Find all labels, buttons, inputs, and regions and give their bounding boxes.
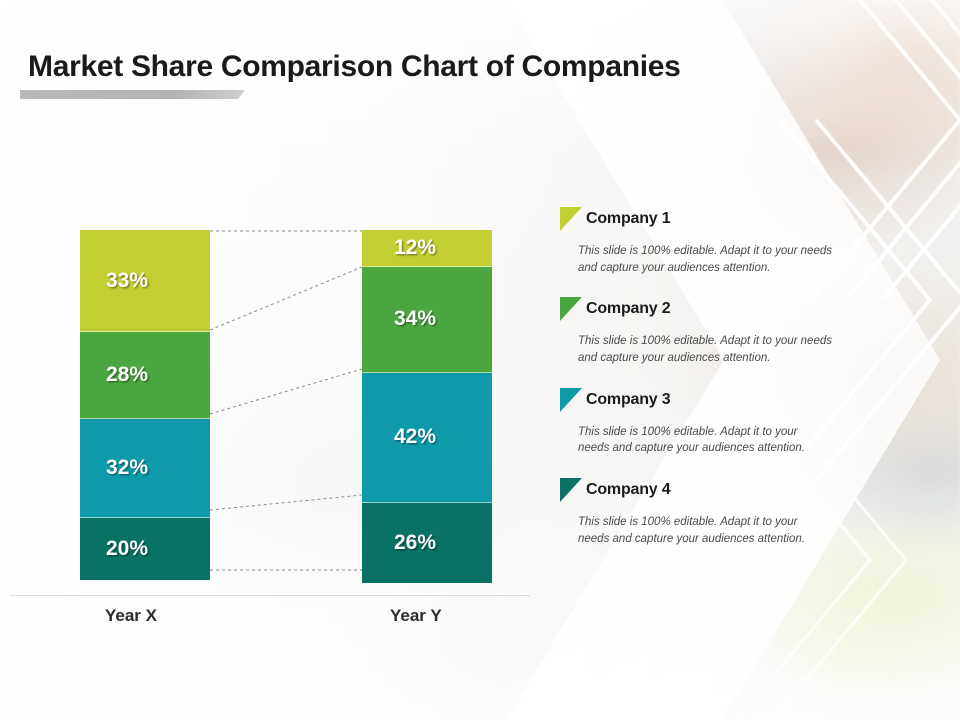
bar-segment-value: 32% xyxy=(106,456,148,480)
bar-segment-value: 26% xyxy=(394,531,436,555)
legend-item-title: Company 2 xyxy=(586,300,670,318)
bar-segment[interactable]: 20% xyxy=(80,518,210,580)
legend-item-header: Company 3 xyxy=(560,387,890,413)
chart-baseline-axis xyxy=(10,594,530,595)
bar-segment[interactable]: 34% xyxy=(362,267,492,372)
category-label-year-y: Year Y xyxy=(390,606,442,626)
slide-canvas: Market Share Comparison Chart of Compani… xyxy=(0,0,960,720)
legend-flag-marker-icon xyxy=(560,478,582,502)
legend-item[interactable]: Company 4This slide is 100% editable. Ad… xyxy=(560,477,890,547)
stack-column-year-x[interactable]: 33%28%32%20% xyxy=(80,230,210,580)
legend-item-title: Company 1 xyxy=(586,210,670,228)
bar-segment[interactable]: 28% xyxy=(80,332,210,419)
bar-segment-value: 34% xyxy=(394,307,436,331)
legend-item[interactable]: Company 2This slide is 100% editable. Ad… xyxy=(560,296,890,366)
bar-segment-value: 12% xyxy=(394,236,436,260)
legend-item-description: This slide is 100% editable. Adapt it to… xyxy=(578,424,814,457)
legend-item[interactable]: Company 1This slide is 100% editable. Ad… xyxy=(560,206,890,276)
legend-item-title: Company 3 xyxy=(586,391,670,409)
legend-item-header: Company 1 xyxy=(560,206,890,232)
legend-flag-marker-icon xyxy=(560,297,582,321)
legend-flag-marker-icon xyxy=(560,207,582,231)
stacked-bar-chart: 33%28%32%20% 12%34%42%26% Year X Year Y xyxy=(0,0,560,720)
category-label-year-x: Year X xyxy=(105,606,157,626)
bar-segment[interactable]: 12% xyxy=(362,230,492,267)
legend-item-description: This slide is 100% editable. Adapt it to… xyxy=(578,243,850,276)
legend-item-header: Company 2 xyxy=(560,296,890,322)
legend-item[interactable]: Company 3This slide is 100% editable. Ad… xyxy=(560,387,890,457)
legend-list: Company 1This slide is 100% editable. Ad… xyxy=(560,206,890,567)
legend-item-description: This slide is 100% editable. Adapt it to… xyxy=(578,333,850,366)
bar-segment-value: 20% xyxy=(106,537,148,561)
legend-flag-marker-icon xyxy=(560,388,582,412)
bar-segment-value: 33% xyxy=(106,269,148,293)
bar-segment[interactable]: 42% xyxy=(362,373,492,503)
legend-item-description: This slide is 100% editable. Adapt it to… xyxy=(578,514,814,547)
stack-column-year-y[interactable]: 12%34%42%26% xyxy=(362,230,492,583)
bar-segment-value: 42% xyxy=(394,425,436,449)
legend-item-title: Company 4 xyxy=(586,481,670,499)
bar-segment[interactable]: 26% xyxy=(362,503,492,584)
legend-item-header: Company 4 xyxy=(560,477,890,503)
bar-segment[interactable]: 33% xyxy=(80,230,210,332)
bar-segment[interactable]: 32% xyxy=(80,419,210,518)
bar-segment-value: 28% xyxy=(106,363,148,387)
